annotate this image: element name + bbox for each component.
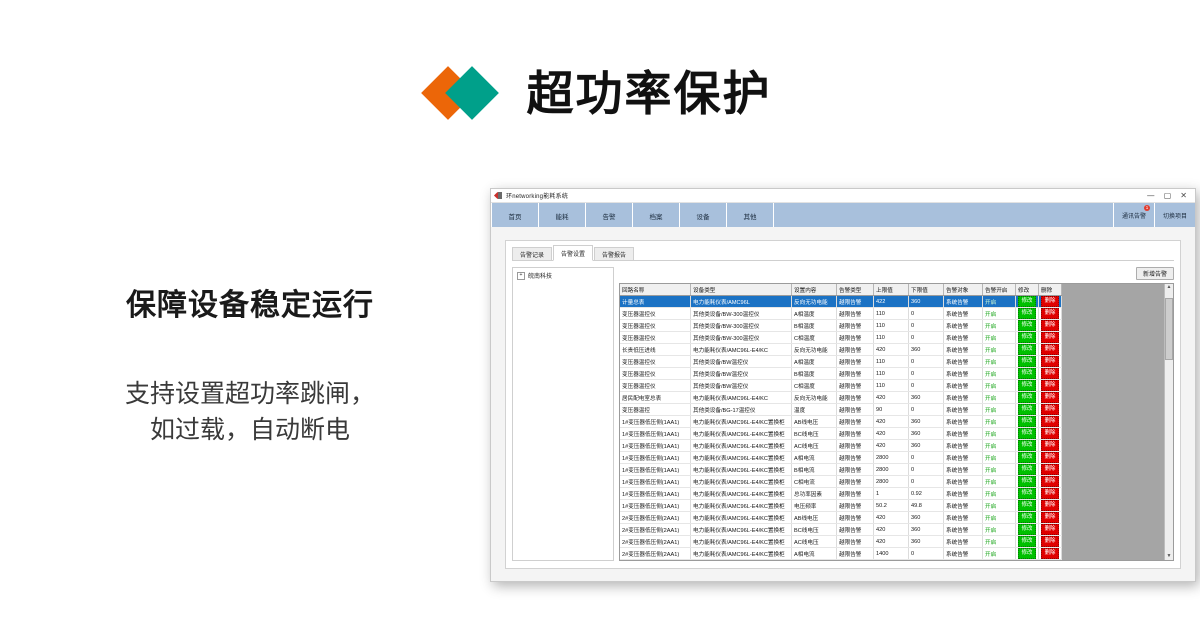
table-row[interactable]: 1#变压器低压侧(1AA1)电力能耗仪表/AMC96L-E4/KC置换柜C相电流… (620, 476, 1062, 488)
cell-object: 系统告警 (944, 320, 983, 332)
cell-enabled[interactable]: 开启 (983, 404, 1016, 416)
cell-content: A相温度 (792, 356, 837, 368)
cell-delete[interactable]: 删除 (1039, 536, 1062, 548)
cell-lower: 0 (909, 560, 944, 561)
enabled-flag: 开启 (985, 552, 996, 558)
table-row[interactable]: 变压器温控仪其他类设备/BW温控仪B相温度越限告警1100系统告警开启修改删除 (620, 368, 1062, 380)
column-header-delete[interactable]: 删除 (1039, 284, 1062, 296)
cell-enabled[interactable]: 开启 (983, 548, 1016, 560)
table-row[interactable]: 2#变压器低压侧(2AA1)电力能耗仪表/AMC96L-E4/KC置换柜BC线电… (620, 524, 1062, 536)
cell-content: A相电流 (792, 452, 837, 464)
column-header-type[interactable]: 告警类型 (837, 284, 874, 296)
table-row[interactable]: 变压器温控仪其他类设备/BW-300温控仪B相温度越限告警1100系统告警开启修… (620, 320, 1062, 332)
app-logo-icon (495, 192, 503, 200)
table-row[interactable]: 变压器温控其他类设备/BG-17温控仪温度越限告警900系统告警开启修改删除 (620, 404, 1062, 416)
cell-upper: 110 (874, 356, 909, 368)
cell-content: C相电流 (792, 476, 837, 488)
cell-type: 越限告警 (837, 536, 874, 548)
edit-row-button[interactable]: 修改 (1018, 500, 1036, 511)
cell-type: 越限告警 (837, 524, 874, 536)
cell-enabled[interactable]: 开启 (983, 356, 1016, 368)
cell-enabled[interactable]: 开启 (983, 476, 1016, 488)
cell-enabled[interactable]: 开启 (983, 560, 1016, 561)
window-content: 告警记录 告警设置 告警报告 + 皖南科技 新增告警 (491, 227, 1195, 581)
cell-edit[interactable]: 修改 (1016, 416, 1039, 428)
cell-enabled[interactable]: 开启 (983, 464, 1016, 476)
table-row[interactable]: 2#变压器低压侧(2AA1)电力能耗仪表/AMC96L-E4/KC置换柜AB线电… (620, 512, 1062, 524)
grid-side: 新增告警 回路名称 设备类型 设置内容 告警类型 (619, 267, 1174, 561)
edit-row-button[interactable]: 修改 (1018, 404, 1036, 415)
cell-lower: 0 (909, 464, 944, 476)
menu-tab-alarm[interactable]: 告警 (586, 203, 633, 228)
table-row[interactable]: 1#变压器低压侧(1AA1)电力能耗仪表/AMC96L-E4/KC置换柜电压频率… (620, 500, 1062, 512)
cell-device: 电力能耗仪表/AMC96L-E4/KC (691, 344, 792, 356)
table-row[interactable]: 1#变压器低压侧(1AA1)电力能耗仪表/AMC96L-E4/KC置换柜总功率因… (620, 488, 1062, 500)
cell-type: 越限告警 (837, 344, 874, 356)
switch-project-button[interactable]: 切换项目 (1154, 203, 1195, 228)
cell-upper: 420 (874, 344, 909, 356)
cell-name: 2#变压器低压侧(2AA1) (620, 524, 691, 536)
cell-enabled[interactable]: 开启 (983, 332, 1016, 344)
cell-delete[interactable]: 删除 (1039, 512, 1062, 524)
cell-enabled[interactable]: 开启 (983, 296, 1016, 308)
table-row[interactable]: 变压器温控仪其他类设备/BW温控仪C相温度越限告警1100系统告警开启修改删除 (620, 380, 1062, 392)
cell-edit[interactable]: 修改 (1016, 452, 1039, 464)
alarm-subtabs: 告警记录 告警设置 告警报告 (512, 246, 1174, 261)
column-header-object[interactable]: 告警对象 (944, 284, 983, 296)
scroll-down-icon[interactable]: ▼ (1167, 553, 1172, 560)
alarm-table-body: 计量总表电力能耗仪表/AMC96L反向无功电能越限告警422360系统告警开启修… (620, 296, 1062, 561)
cell-lower: 0 (909, 308, 944, 320)
cell-edit[interactable]: 修改 (1016, 404, 1039, 416)
delete-row-button[interactable]: 删除 (1041, 464, 1059, 475)
cell-enabled[interactable]: 开启 (983, 320, 1016, 332)
cell-content: B相电流 (792, 464, 837, 476)
cell-delete[interactable]: 删除 (1039, 332, 1062, 344)
edit-row-button[interactable]: 修改 (1018, 296, 1036, 307)
cell-delete[interactable]: 删除 (1039, 368, 1062, 380)
cell-object: 系统告警 (944, 464, 983, 476)
delete-row-button[interactable]: 删除 (1041, 332, 1059, 343)
cell-edit[interactable]: 修改 (1016, 560, 1039, 561)
alarm-settings-table: 回路名称 设备类型 设置内容 告警类型 上限值 下限值 告警对象 告警开启 修改 (620, 284, 1062, 560)
cell-upper: 1400 (874, 560, 909, 561)
delete-row-button[interactable]: 删除 (1041, 416, 1059, 427)
table-row[interactable]: 1#变压器低压侧(1AA1)电力能耗仪表/AMC96L-E4/KC置换柜AC线电… (620, 440, 1062, 452)
ribbon-right-buttons: 通讯告警 1 切换项目 (1113, 203, 1195, 228)
cell-edit[interactable]: 修改 (1016, 464, 1039, 476)
table-row[interactable]: 1#变压器低压侧(1AA1)电力能耗仪表/AMC96L-E4/KC置换柜BC线电… (620, 428, 1062, 440)
edit-row-button[interactable]: 修改 (1018, 548, 1036, 559)
cell-name: 长贵低压进线 (620, 344, 691, 356)
delete-row-button[interactable]: 删除 (1041, 344, 1059, 355)
cell-enabled[interactable]: 开启 (983, 500, 1016, 512)
cell-object: 系统告警 (944, 344, 983, 356)
cell-lower: 360 (909, 524, 944, 536)
cell-edit[interactable]: 修改 (1016, 368, 1039, 380)
edit-row-button[interactable]: 修改 (1018, 356, 1036, 367)
enabled-flag: 开启 (985, 384, 996, 390)
cell-object: 系统告警 (944, 536, 983, 548)
delete-row-button[interactable]: 删除 (1041, 380, 1059, 391)
enabled-flag: 开启 (985, 492, 996, 498)
cell-lower: 360 (909, 392, 944, 404)
cell-content: 温度 (792, 404, 837, 416)
cell-object: 系统告警 (944, 452, 983, 464)
cell-name: 2#变压器低压侧(2AA1) (620, 548, 691, 560)
enabled-flag: 开启 (985, 408, 996, 414)
enabled-flag: 开启 (985, 468, 996, 474)
delete-row-button[interactable]: 删除 (1041, 428, 1059, 439)
cell-object: 系统告警 (944, 560, 983, 561)
cell-type: 越限告警 (837, 428, 874, 440)
application-window: 环networking能耗系统 — ▢ ✕ 首页 能耗 告警 档案 设备 其他 … (490, 188, 1196, 582)
cell-upper: 422 (874, 296, 909, 308)
cell-edit[interactable]: 修改 (1016, 380, 1039, 392)
edit-row-button[interactable]: 修改 (1018, 524, 1036, 535)
cell-enabled[interactable]: 开启 (983, 392, 1016, 404)
delete-row-button[interactable]: 删除 (1041, 488, 1059, 499)
window-controls: — ▢ ✕ (1147, 192, 1193, 200)
cell-object: 系统告警 (944, 380, 983, 392)
cell-device: 电力能耗仪表/AMC96L-E4/KC置换柜 (691, 440, 792, 452)
edit-row-button[interactable]: 修改 (1018, 512, 1036, 523)
cell-lower: 0 (909, 380, 944, 392)
column-header-content[interactable]: 设置内容 (792, 284, 837, 296)
cell-upper: 2800 (874, 476, 909, 488)
cell-device: 电力能耗仪表/AMC96L-E4/KC置换柜 (691, 452, 792, 464)
cell-edit[interactable]: 修改 (1016, 488, 1039, 500)
edit-row-button[interactable]: 修改 (1018, 416, 1036, 427)
cell-delete[interactable]: 删除 (1039, 440, 1062, 452)
maximize-icon[interactable]: ▢ (1164, 192, 1172, 200)
cell-lower: 360 (909, 416, 944, 428)
table-row[interactable]: 长贵低压进线电力能耗仪表/AMC96L-E4/KC反向无功电能越限告警42036… (620, 344, 1062, 356)
cell-delete[interactable]: 删除 (1039, 428, 1062, 440)
cell-delete[interactable]: 删除 (1039, 356, 1062, 368)
cell-lower: 360 (909, 440, 944, 452)
delete-row-button[interactable]: 删除 (1041, 392, 1059, 403)
cell-edit[interactable]: 修改 (1016, 548, 1039, 560)
cell-delete[interactable]: 删除 (1039, 452, 1062, 464)
edit-row-button[interactable]: 修改 (1018, 368, 1036, 379)
cell-delete[interactable]: 删除 (1039, 320, 1062, 332)
cell-device: 其他类设备/BW-300温控仪 (691, 308, 792, 320)
delete-row-button[interactable]: 删除 (1041, 356, 1059, 367)
cell-name: 1#变压器低压侧(1AA1) (620, 416, 691, 428)
cell-name: 变压器温控仪 (620, 332, 691, 344)
cell-device: 电力能耗仪表/AMC96L-E4/KC置换柜 (691, 512, 792, 524)
cell-content: 反向无功电能 (792, 344, 837, 356)
cell-delete[interactable]: 删除 (1039, 416, 1062, 428)
menu-tab-energy[interactable]: 能耗 (539, 203, 586, 228)
cell-type: 越限告警 (837, 356, 874, 368)
delete-row-button[interactable]: 删除 (1041, 452, 1059, 463)
cell-device: 其他类设备/BW温控仪 (691, 356, 792, 368)
cell-delete[interactable]: 删除 (1039, 392, 1062, 404)
cell-delete[interactable]: 删除 (1039, 560, 1062, 561)
edit-row-button[interactable]: 修改 (1018, 440, 1036, 451)
enabled-flag: 开启 (985, 348, 996, 354)
cell-upper: 90 (874, 404, 909, 416)
cell-delete[interactable]: 删除 (1039, 308, 1062, 320)
scroll-up-icon[interactable]: ▲ (1167, 284, 1172, 291)
table-row[interactable]: 变压器温控仪其他类设备/BW温控仪A相温度越限告警1100系统告警开启修改删除 (620, 356, 1062, 368)
delete-row-button[interactable]: 删除 (1041, 308, 1059, 319)
cell-lower: 0 (909, 476, 944, 488)
cell-object: 系统告警 (944, 440, 983, 452)
delete-row-button[interactable]: 删除 (1041, 296, 1059, 307)
alarm-panel: 告警记录 告警设置 告警报告 + 皖南科技 新增告警 (505, 240, 1181, 569)
cell-edit[interactable]: 修改 (1016, 344, 1039, 356)
cell-edit[interactable]: 修改 (1016, 392, 1039, 404)
cell-delete[interactable]: 删除 (1039, 344, 1062, 356)
cell-enabled[interactable]: 开启 (983, 488, 1016, 500)
edit-row-button[interactable]: 修改 (1018, 392, 1036, 403)
copy-body: 支持设置超功率跳闸， 如过载，自动断电 (55, 376, 445, 449)
edit-row-button[interactable]: 修改 (1018, 344, 1036, 355)
cell-device: 其他类设备/BW温控仪 (691, 368, 792, 380)
cell-enabled[interactable]: 开启 (983, 416, 1016, 428)
edit-row-button[interactable]: 修改 (1018, 476, 1036, 487)
cell-name: 1#变压器低压侧(1AA1) (620, 452, 691, 464)
cell-type: 越限告警 (837, 320, 874, 332)
cell-edit[interactable]: 修改 (1016, 356, 1039, 368)
cell-object: 系统告警 (944, 512, 983, 524)
close-icon[interactable]: ✕ (1180, 192, 1187, 200)
enabled-flag: 开启 (985, 540, 996, 546)
table-row[interactable]: 变压器温控仪其他类设备/BW-300温控仪C相温度越限告警1100系统告警开启修… (620, 332, 1062, 344)
cell-object: 系统告警 (944, 368, 983, 380)
edit-row-button[interactable]: 修改 (1018, 332, 1036, 343)
column-header-name[interactable]: 回路名称 (620, 284, 691, 296)
page-header: 超功率保护 (0, 58, 1200, 128)
enabled-flag: 开启 (985, 372, 996, 378)
cell-upper: 420 (874, 524, 909, 536)
delete-row-button[interactable]: 删除 (1041, 524, 1059, 535)
scroll-thumb[interactable] (1165, 298, 1173, 360)
cell-content: 反向无功电能 (792, 296, 837, 308)
cell-edit[interactable]: 修改 (1016, 476, 1039, 488)
cell-content: AB线电压 (792, 416, 837, 428)
alarm-grid-scroll: 回路名称 设备类型 设置内容 告警类型 上限值 下限值 告警对象 告警开启 修改 (620, 284, 1164, 560)
cell-delete[interactable]: 删除 (1039, 500, 1062, 512)
delete-row-button[interactable]: 删除 (1041, 512, 1059, 523)
cell-delete[interactable]: 删除 (1039, 548, 1062, 560)
enabled-flag: 开启 (985, 480, 996, 486)
delete-row-button[interactable]: 删除 (1041, 536, 1059, 547)
cell-delete[interactable]: 删除 (1039, 524, 1062, 536)
cell-type: 越限告警 (837, 464, 874, 476)
edit-row-button[interactable]: 修改 (1018, 380, 1036, 391)
delete-row-button[interactable]: 删除 (1041, 368, 1059, 379)
cell-name: 2#变压器低压侧(2AA1) (620, 560, 691, 561)
cell-object: 系统告警 (944, 308, 983, 320)
cell-enabled[interactable]: 开启 (983, 452, 1016, 464)
cell-enabled[interactable]: 开启 (983, 440, 1016, 452)
column-header-device[interactable]: 设备类型 (691, 284, 792, 296)
cell-enabled[interactable]: 开启 (983, 512, 1016, 524)
cell-enabled[interactable]: 开启 (983, 428, 1016, 440)
tab-alarm-settings[interactable]: 告警设置 (553, 245, 593, 261)
cell-edit[interactable]: 修改 (1016, 296, 1039, 308)
cell-enabled[interactable]: 开启 (983, 536, 1016, 548)
cell-delete[interactable]: 删除 (1039, 476, 1062, 488)
delete-row-button[interactable]: 删除 (1041, 320, 1059, 331)
cell-edit[interactable]: 修改 (1016, 512, 1039, 524)
cell-name: 变压器温控仪 (620, 380, 691, 392)
edit-row-button[interactable]: 修改 (1018, 464, 1036, 475)
alarm-grid-wrapper: 回路名称 设备类型 设置内容 告警类型 上限值 下限值 告警对象 告警开启 修改 (619, 283, 1174, 561)
edit-row-button[interactable]: 修改 (1018, 536, 1036, 547)
comm-alarm-label: 通讯告警 (1122, 211, 1146, 220)
cell-lower: 360 (909, 536, 944, 548)
table-row[interactable]: 1#变压器低压侧(1AA1)电力能耗仪表/AMC96L-E4/KC置换柜B相电流… (620, 464, 1062, 476)
cell-delete[interactable]: 删除 (1039, 488, 1062, 500)
cell-enabled[interactable]: 开启 (983, 380, 1016, 392)
edit-row-button[interactable]: 修改 (1018, 428, 1036, 439)
cell-content: B相温度 (792, 368, 837, 380)
comm-alarm-button[interactable]: 通讯告警 1 (1113, 203, 1154, 228)
tree-root-node[interactable]: + 皖南科技 (517, 271, 609, 280)
cell-name: 1#变压器低压侧(1AA1) (620, 440, 691, 452)
cell-upper: 110 (874, 380, 909, 392)
cell-object: 系统告警 (944, 524, 983, 536)
cell-device: 电力能耗仪表/AMC96L-E4/KC (691, 392, 792, 404)
main-menu-ribbon: 首页 能耗 告警 档案 设备 其他 通讯告警 1 切换项目 (491, 203, 1195, 229)
cell-object: 系统告警 (944, 296, 983, 308)
menu-tab-other[interactable]: 其他 (727, 203, 774, 228)
cell-content: A相电流 (792, 548, 837, 560)
cell-enabled[interactable]: 开启 (983, 344, 1016, 356)
cell-upper: 110 (874, 308, 909, 320)
cell-content: B相温度 (792, 320, 837, 332)
cell-enabled[interactable]: 开启 (983, 524, 1016, 536)
cell-object: 系统告警 (944, 332, 983, 344)
table-row[interactable]: 2#变压器低压侧(2AA1)电力能耗仪表/AMC96L-E4/KC置换柜AC线电… (620, 536, 1062, 548)
cell-device: 电力能耗仪表/AMC96L-E4/KC置换柜 (691, 488, 792, 500)
cell-lower: 360 (909, 428, 944, 440)
delete-row-button[interactable]: 删除 (1041, 440, 1059, 451)
device-tree-panel[interactable]: + 皖南科技 (512, 267, 614, 561)
cell-upper: 420 (874, 392, 909, 404)
cell-name: 1#变压器低压侧(1AA1) (620, 476, 691, 488)
table-row[interactable]: 1#变压器低压侧(1AA1)电力能耗仪表/AMC96L-E4/KC置换柜AB线电… (620, 416, 1062, 428)
cell-edit[interactable]: 修改 (1016, 536, 1039, 548)
delete-row-button[interactable]: 删除 (1041, 500, 1059, 511)
column-header-enabled[interactable]: 告警开启 (983, 284, 1016, 296)
cell-upper: 420 (874, 536, 909, 548)
cell-edit[interactable]: 修改 (1016, 524, 1039, 536)
cell-content: AC线电压 (792, 536, 837, 548)
cell-delete[interactable]: 删除 (1039, 464, 1062, 476)
minimize-icon[interactable]: — (1147, 192, 1155, 200)
cell-content: C相温度 (792, 380, 837, 392)
cell-lower: 0 (909, 320, 944, 332)
delete-row-button[interactable]: 删除 (1041, 404, 1059, 415)
cell-type: 越限告警 (837, 296, 874, 308)
cell-upper: 420 (874, 428, 909, 440)
cell-delete[interactable]: 删除 (1039, 296, 1062, 308)
cell-device: 电力能耗仪表/AMC96L-E4/KC置换柜 (691, 464, 792, 476)
enabled-flag: 开启 (985, 432, 996, 438)
cell-name: 2#变压器低压侧(2AA1) (620, 512, 691, 524)
column-header-upper[interactable]: 上限值 (874, 284, 909, 296)
cell-delete[interactable]: 删除 (1039, 380, 1062, 392)
tab-alarm-records[interactable]: 告警记录 (512, 247, 552, 260)
cell-name: 变压器温控仪 (620, 356, 691, 368)
cell-edit[interactable]: 修改 (1016, 332, 1039, 344)
edit-row-button[interactable]: 修改 (1018, 488, 1036, 499)
cell-edit[interactable]: 修改 (1016, 500, 1039, 512)
menu-tab-device[interactable]: 设备 (680, 203, 727, 228)
cell-object: 系统告警 (944, 548, 983, 560)
cell-device: 电力能耗仪表/AMC96L-E4/KC置换柜 (691, 548, 792, 560)
enabled-flag: 开启 (985, 456, 996, 462)
column-header-edit[interactable]: 修改 (1016, 284, 1039, 296)
expand-icon[interactable]: + (517, 272, 525, 280)
cell-name: 居民配电室总表 (620, 392, 691, 404)
cell-object: 系统告警 (944, 356, 983, 368)
cell-name: 1#变压器低压侧(1AA1) (620, 488, 691, 500)
cell-lower: 0 (909, 332, 944, 344)
cell-enabled[interactable]: 开启 (983, 308, 1016, 320)
window-title: 环networking能耗系统 (506, 191, 568, 200)
grid-vertical-scrollbar[interactable]: ▲ ▼ (1164, 284, 1173, 560)
cell-upper: 110 (874, 368, 909, 380)
table-row[interactable]: 计量总表电力能耗仪表/AMC96L反向无功电能越限告警422360系统告警开启修… (620, 296, 1062, 308)
cell-upper: 420 (874, 512, 909, 524)
menu-tab-home[interactable]: 首页 (491, 203, 539, 228)
cell-device: 电力能耗仪表/AMC96L-E4/KC置换柜 (691, 428, 792, 440)
edit-row-button[interactable]: 修改 (1018, 320, 1036, 331)
delete-row-button[interactable]: 删除 (1041, 548, 1059, 559)
cell-type: 越限告警 (837, 368, 874, 380)
table-row[interactable]: 居民配电室总表电力能耗仪表/AMC96L-E4/KC反向无功电能越限告警4203… (620, 392, 1062, 404)
edit-row-button[interactable]: 修改 (1018, 452, 1036, 463)
cell-content: 总功率因素 (792, 488, 837, 500)
table-row[interactable]: 变压器温控仪其他类设备/BW-300温控仪A相温度越限告警1100系统告警开启修… (620, 308, 1062, 320)
cell-type: 越限告警 (837, 560, 874, 561)
cell-enabled[interactable]: 开启 (983, 368, 1016, 380)
add-alarm-button[interactable]: 新增告警 (1136, 267, 1174, 280)
cell-edit[interactable]: 修改 (1016, 308, 1039, 320)
table-row[interactable]: 2#变压器低压侧(2AA1)电力能耗仪表/AMC96L-E4/KC置换柜A相电流… (620, 548, 1062, 560)
column-header-lower[interactable]: 下限值 (909, 284, 944, 296)
cell-edit[interactable]: 修改 (1016, 320, 1039, 332)
delete-row-button[interactable]: 删除 (1041, 476, 1059, 487)
table-row[interactable]: 1#变压器低压侧(1AA1)电力能耗仪表/AMC96L-E4/KC置换柜A相电流… (620, 452, 1062, 464)
cell-object: 系统告警 (944, 476, 983, 488)
cell-type: 越限告警 (837, 380, 874, 392)
cell-delete[interactable]: 删除 (1039, 404, 1062, 416)
cell-object: 系统告警 (944, 500, 983, 512)
cell-content: AC线电压 (792, 440, 837, 452)
table-row[interactable]: 2#变压器低压侧(2AA1)电力能耗仪表/AMC96L-E4/KC置换柜B相电流… (620, 560, 1062, 561)
edit-row-button[interactable]: 修改 (1018, 308, 1036, 319)
cell-lower: 0 (909, 356, 944, 368)
tab-alarm-reports[interactable]: 告警报告 (594, 247, 634, 260)
table-header-row: 回路名称 设备类型 设置内容 告警类型 上限值 下限值 告警对象 告警开启 修改 (620, 284, 1062, 296)
cell-device: 电力能耗仪表/AMC96L-E4/KC置换柜 (691, 524, 792, 536)
menu-tab-archive[interactable]: 档案 (633, 203, 680, 228)
cell-content: B相电流 (792, 560, 837, 561)
cell-edit[interactable]: 修改 (1016, 440, 1039, 452)
cell-edit[interactable]: 修改 (1016, 428, 1039, 440)
cell-object: 系统告警 (944, 392, 983, 404)
copy-body-line-1: 支持设置超功率跳闸， (55, 376, 445, 412)
enabled-flag: 开启 (985, 324, 996, 330)
